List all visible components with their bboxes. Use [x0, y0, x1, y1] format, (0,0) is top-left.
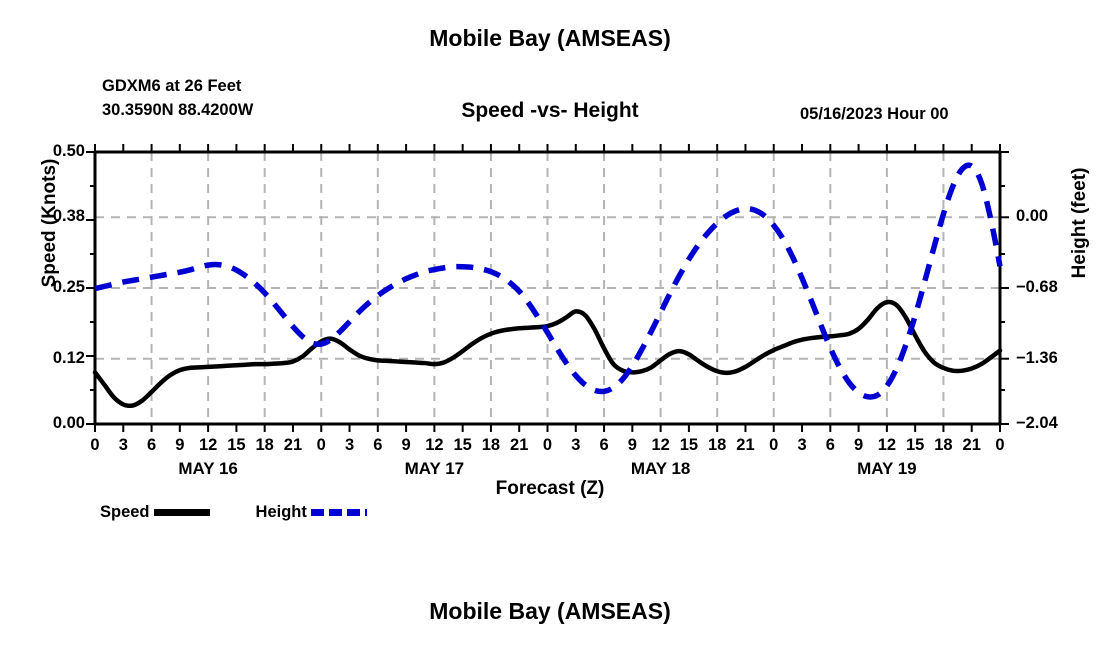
- y-tick-label-right: −0.68: [1016, 278, 1058, 297]
- legend-label-height: Height: [256, 503, 307, 522]
- legend-item-height: Height: [256, 503, 367, 522]
- day-label: MAY 18: [601, 459, 721, 479]
- y-tick-label-left: 0.12: [20, 349, 85, 368]
- legend-swatch-speed-icon: [154, 509, 210, 516]
- y-tick-label-right: −1.36: [1016, 349, 1058, 368]
- page-title-bottom: Mobile Bay (AMSEAS): [0, 598, 1100, 625]
- y-tick-label-right: 0.00: [1016, 207, 1048, 226]
- legend-swatch-height-icon: [311, 509, 367, 516]
- forecast-chart-page: Mobile Bay (AMSEAS) GDXM6 at 26 Feet 30.…: [0, 0, 1100, 650]
- y-tick-label-left: 0.25: [20, 278, 85, 297]
- y-tick-label-left: 0.00: [20, 414, 85, 433]
- plot-canvas: [0, 0, 1100, 650]
- legend-label-speed: Speed: [100, 503, 150, 522]
- x-tick-label: 0: [980, 436, 1020, 455]
- chart-legend: Speed Height: [100, 503, 367, 522]
- gridlines: [95, 152, 1000, 424]
- day-label: MAY 17: [374, 459, 494, 479]
- day-label: MAY 16: [148, 459, 268, 479]
- day-label: MAY 19: [827, 459, 947, 479]
- y-tick-label-left: 0.50: [20, 142, 85, 161]
- y-tick-label-right: −2.04: [1016, 414, 1058, 433]
- legend-item-speed: Speed: [100, 503, 210, 522]
- y-tick-label-left: 0.38: [20, 207, 85, 226]
